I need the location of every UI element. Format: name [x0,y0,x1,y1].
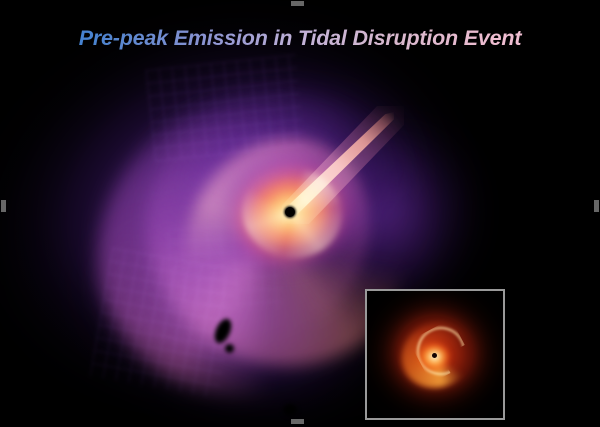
debris-stream-glow [282,106,404,224]
inset-black-hole-marker [432,353,437,358]
amr-grid-artifact-left [90,248,241,399]
density-void-a [211,316,234,345]
halo-lower-left-lobe [0,160,420,427]
crop-mark-right [594,200,599,212]
panel-vignette [0,0,600,427]
halo-upper-lobe [107,26,463,280]
figure-root: Pre-peak Emission in Tidal Disruption Ev… [0,0,600,427]
amr-grid-artifact-mid [168,223,282,313]
main-simulation-panel [0,0,600,427]
crop-mark-left [1,200,6,212]
density-void-c [283,404,297,416]
debris-stream [286,112,394,216]
inset-spiral-arm [391,311,483,399]
inset-halo [365,289,505,420]
crop-mark-bottom [291,419,304,424]
density-void-b [225,344,234,353]
inset-core [419,341,453,371]
inset-vignette [367,291,503,418]
inset-stream-hook [409,319,474,384]
inset-panel [365,289,505,420]
black-hole-marker [285,207,295,217]
amr-grid-artifact-top [146,54,305,161]
crop-mark-top [291,1,304,6]
